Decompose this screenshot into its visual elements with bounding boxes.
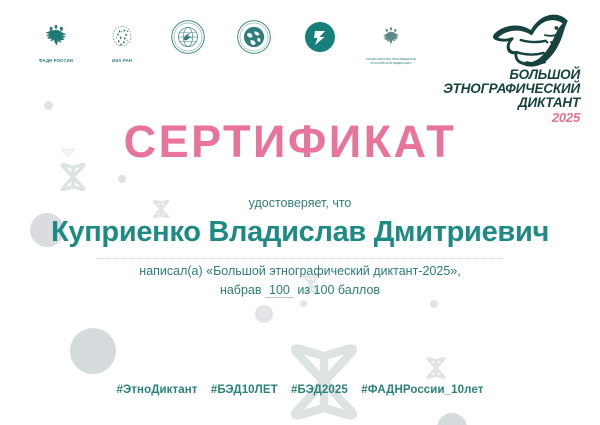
logo-caption: ФАДН РОССИИ [39, 58, 73, 63]
logo-iea-ran: ИЭА РАН [96, 18, 148, 63]
recipient-name: Куприенко Владислав Дмитриевич [0, 216, 600, 249]
achievement-line-2: набрав 100 из 100 баллов [0, 283, 600, 298]
logo-rgo [228, 18, 280, 58]
hashtag-item[interactable]: #ЭтноДиктант [117, 384, 198, 396]
rossotrudnichestvo-globe-dove-icon [170, 18, 206, 56]
logo-caption: ИЭА РАН [112, 58, 132, 63]
ministry-eagle-icon [378, 18, 404, 56]
certificate-page: ФАДН РОССИИ ИЭА РАН [0, 0, 600, 425]
score-prefix: набрав [220, 283, 262, 297]
brand-year: 2025 [443, 111, 580, 124]
circle-e-mark-icon [304, 18, 336, 56]
certify-subtitle: удостоверяет, что [0, 196, 600, 210]
hashtag-item[interactable]: #БЭД2025 [291, 384, 348, 396]
hashtag-item[interactable]: #БЭД10ЛЕТ [211, 384, 278, 396]
brand-line-2: ЭТНОГРАФИЧЕСКИЙ [443, 82, 580, 96]
score-unit: баллов [338, 283, 380, 297]
score-value: 100 [265, 283, 294, 298]
brand-line-3: ДИКТАНТ [443, 96, 580, 110]
divider [96, 258, 504, 259]
score-of: из [297, 283, 310, 297]
logo-fadn: ФАДН РОССИИ [30, 18, 82, 63]
brand-wordmark: БОЛЬШОЙ ЭТНОГРАФИЧЕСКИЙ ДИКТАНТ 2025 [443, 68, 580, 124]
iea-ran-emblem-icon [107, 18, 137, 56]
partner-logos: ФАДН РОССИИ ИЭА РАН [30, 18, 422, 66]
logo-rossotrudnichestvo [162, 18, 214, 58]
hashtag-list: #ЭтноДиктант #БЭД10ЛЕТ #БЭД2025 #ФАДНРос… [0, 384, 600, 396]
score-max: 100 [314, 283, 335, 297]
brand-logo: БОЛЬШОЙ ЭТНОГРАФИЧЕСКИЙ ДИКТАНТ 2025 [461, 8, 586, 126]
logo-caption: МИНИСТЕРСТВО ПРОСВЕЩЕНИЯ РОССИЙСКОЙ ФЕДЕ… [366, 58, 416, 66]
logo-etnodiktant-mark [294, 18, 346, 58]
hashtag-item[interactable]: #ФАДНРоссии_10лет [361, 384, 483, 396]
logo-minobrnauki: МИНИСТЕРСТВО ПРОСВЕЩЕНИЯ РОССИЙСКОЙ ФЕДЕ… [360, 18, 422, 66]
globe-emblem-icon [236, 18, 272, 56]
double-headed-eagle-icon [41, 18, 71, 56]
achievement-line-1: написал(а) «Большой этнографический дикт… [0, 264, 600, 278]
